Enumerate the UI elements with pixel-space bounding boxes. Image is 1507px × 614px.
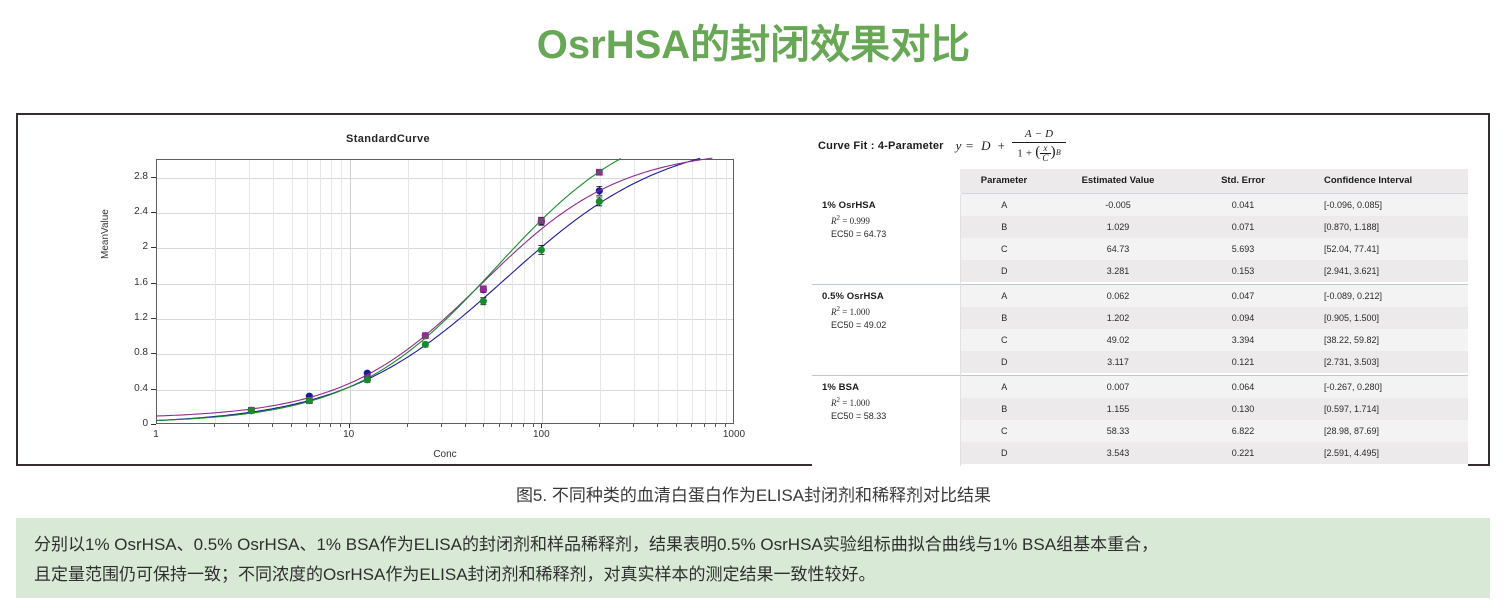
cell-parameter: C — [960, 420, 1048, 442]
cell-std-error: 3.394 — [1188, 329, 1298, 351]
group-name: 0.5% OsrHSA — [822, 291, 958, 302]
x-axis-tick-mark — [599, 424, 600, 427]
x-axis-tick-mark — [633, 424, 634, 427]
y-axis-tick-mark — [151, 318, 156, 319]
y-axis-tick-label: 1.2 — [108, 312, 148, 323]
cell-estimated-value: 0.007 — [1048, 376, 1188, 399]
table-row: 0.5% OsrHSAR2 = 1.000EC50 = 49.02A0.0620… — [812, 285, 1468, 308]
x-axis-tick-mark — [523, 424, 524, 427]
cell-parameter: A — [960, 376, 1048, 399]
cell-estimated-value: 3.543 — [1048, 442, 1188, 464]
col-header-std-error: Std. Error — [1188, 169, 1298, 194]
x-axis-tick-mark — [340, 424, 341, 427]
x-axis-tick-mark — [291, 424, 292, 427]
cell-std-error: 0.071 — [1188, 216, 1298, 238]
data-point — [596, 198, 603, 205]
x-axis-tick-mark — [349, 424, 350, 428]
y-axis-tick-mark — [151, 212, 156, 213]
cell-confidence-interval: [0.597, 1.714] — [1298, 398, 1468, 420]
table-body: 1% OsrHSAR2 = 0.999EC50 = 64.73A-0.0050.… — [812, 194, 1468, 467]
col-header-estimated-value: Estimated Value — [1048, 169, 1188, 194]
summary-note: 分别以1% OsrHSA、0.5% OsrHSA、1% BSA作为ELISA的封… — [16, 518, 1490, 598]
cell-parameter: D — [960, 260, 1048, 282]
y-axis-tick-label: 2 — [108, 241, 148, 252]
cell-parameter: B — [960, 307, 1048, 329]
cell-parameter: A — [960, 194, 1048, 217]
cell-std-error: 0.153 — [1188, 260, 1298, 282]
cell-confidence-interval: [28.98, 87.69] — [1298, 420, 1468, 442]
figure-caption: 图5. 不同种类的血清白蛋白作为ELISA封闭剂和稀释剂对比结果 — [0, 481, 1507, 506]
y-axis-tick-label: 0.8 — [108, 347, 148, 358]
group-r-squared: R2 = 1.000 — [831, 305, 958, 317]
cell-std-error: 5.693 — [1188, 238, 1298, 260]
summary-note-line-2: 且定量范围仍可保持一致；不同浓度的OsrHSA作为ELISA封闭剂和稀释剂，对真… — [34, 560, 1474, 590]
curve-fit-formula: y = D + A − D 1 + ( x C ) — [956, 129, 1066, 163]
y-axis-tick-mark — [151, 389, 156, 390]
cell-std-error: 0.130 — [1188, 398, 1298, 420]
formula-exponent: B — [1056, 149, 1061, 157]
formula-numerator: A − D — [1020, 129, 1058, 142]
standard-curve-chart: StandardCurve MeanValue Conc 00.40.81.21… — [38, 119, 758, 464]
x-axis-tick-mark — [704, 424, 705, 427]
summary-note-line-1: 分别以1% OsrHSA、0.5% OsrHSA、1% BSA作为ELISA的封… — [34, 530, 1474, 560]
formula-plus: + — [998, 138, 1006, 154]
cell-parameter: B — [960, 398, 1048, 420]
y-axis-tick-label: 2.4 — [108, 206, 148, 217]
x-axis-tick-mark — [676, 424, 677, 427]
col-header-confidence-interval: Confidence Interval — [1298, 169, 1468, 194]
table-row: 1% BSAR2 = 1.000EC50 = 58.33A0.0070.064[… — [812, 376, 1468, 399]
group-name: 1% BSA — [822, 382, 958, 393]
x-axis-tick-mark — [248, 424, 249, 427]
x-axis-tick-mark — [306, 424, 307, 427]
y-axis-tick-label: 0 — [108, 418, 148, 429]
cell-estimated-value: 1.029 — [1048, 216, 1188, 238]
formula-C: C — [1040, 153, 1050, 163]
cell-parameter: D — [960, 442, 1048, 464]
formula-x: x — [1041, 144, 1049, 153]
fit-curve-2 — [156, 158, 621, 420]
group-cell: 1% BSAR2 = 1.000EC50 = 58.33 — [812, 376, 960, 465]
cell-std-error: 0.094 — [1188, 307, 1298, 329]
cell-estimated-value: 58.33 — [1048, 420, 1188, 442]
y-axis-tick-mark — [151, 353, 156, 354]
cell-confidence-interval: [2.591, 4.495] — [1298, 442, 1468, 464]
fit-curve-0 — [156, 158, 700, 420]
x-axis-tick-mark — [319, 424, 320, 427]
table-row: 1% OsrHSAR2 = 0.999EC50 = 64.73A-0.0050.… — [812, 194, 1468, 217]
fit-curve-1 — [156, 158, 712, 416]
formula-one-plus: 1 + — [1017, 147, 1032, 159]
table-header: Parameter Estimated Value Std. Error Con… — [812, 169, 1468, 194]
cell-confidence-interval: [-0.089, 0.212] — [1298, 285, 1468, 308]
y-axis-tick-label: 1.6 — [108, 277, 148, 288]
x-axis-tick-mark — [657, 424, 658, 427]
group-cell: 1% OsrHSAR2 = 0.999EC50 = 64.73 — [812, 194, 960, 283]
figure-frame: StandardCurve MeanValue Conc 00.40.81.21… — [16, 113, 1490, 466]
x-axis-tick-mark — [541, 424, 542, 428]
cell-estimated-value: 3.117 — [1048, 351, 1188, 373]
y-axis-tick-mark — [151, 177, 156, 178]
x-axis-tick-mark — [407, 424, 408, 427]
x-axis-tick-mark — [272, 424, 273, 427]
cell-confidence-interval: [0.905, 1.500] — [1298, 307, 1468, 329]
cell-confidence-interval: [-0.096, 0.085] — [1298, 194, 1468, 217]
formula-denominator: 1 + ( x C ) B — [1012, 142, 1066, 163]
x-axis-tick-label: 1 — [131, 429, 181, 440]
x-axis-tick-mark — [725, 424, 726, 427]
y-axis-tick-mark — [151, 424, 156, 425]
x-axis-tick-mark — [715, 424, 716, 427]
cell-confidence-interval: [2.941, 3.621] — [1298, 260, 1468, 282]
cell-estimated-value: 1.155 — [1048, 398, 1188, 420]
data-point — [538, 246, 545, 253]
formula-D: D — [981, 138, 991, 154]
group-cell: 0.5% OsrHSAR2 = 1.000EC50 = 49.02 — [812, 285, 960, 374]
parameter-table-panel: Curve Fit : 4-Parameter y = D + A − D 1 … — [804, 121, 1476, 461]
data-point — [364, 376, 371, 383]
data-point — [422, 341, 429, 348]
cell-estimated-value: 1.202 — [1048, 307, 1188, 329]
cell-parameter: D — [960, 351, 1048, 373]
cell-parameter: A — [960, 285, 1048, 308]
y-axis-tick-label: 2.8 — [108, 171, 148, 182]
cell-estimated-value: 3.281 — [1048, 260, 1188, 282]
x-axis-tick-mark — [441, 424, 442, 427]
x-axis-tick-mark — [465, 424, 466, 427]
group-name: 1% OsrHSA — [822, 200, 958, 211]
x-axis-tick-label: 1000 — [709, 429, 759, 440]
cell-std-error: 0.064 — [1188, 376, 1298, 399]
cell-confidence-interval: [-0.267, 0.280] — [1298, 376, 1468, 399]
data-point — [248, 407, 255, 414]
group-r-squared: R2 = 1.000 — [831, 396, 958, 408]
x-axis-tick-mark — [483, 424, 484, 427]
cell-estimated-value: -0.005 — [1048, 194, 1188, 217]
cell-parameter: C — [960, 238, 1048, 260]
group-ec50: EC50 = 58.33 — [831, 411, 958, 421]
y-axis-tick-mark — [151, 283, 156, 284]
x-axis-tick-mark — [511, 424, 512, 427]
parameter-table: Parameter Estimated Value Std. Error Con… — [812, 169, 1468, 466]
x-axis-tick-mark — [499, 424, 500, 427]
cell-confidence-interval: [0.870, 1.188] — [1298, 216, 1468, 238]
data-point — [306, 397, 313, 404]
group-spacer — [812, 464, 1468, 466]
cell-estimated-value: 49.02 — [1048, 329, 1188, 351]
cell-confidence-interval: [38.22, 59.82] — [1298, 329, 1468, 351]
cell-std-error: 6.822 — [1188, 420, 1298, 442]
cell-std-error: 0.221 — [1188, 442, 1298, 464]
group-ec50: EC50 = 64.73 — [831, 229, 958, 239]
formula-paren: ( x C ) B — [1035, 144, 1061, 163]
formula-y: y = — [956, 138, 974, 154]
x-axis-tick-label: 10 — [324, 429, 374, 440]
cell-parameter: B — [960, 216, 1048, 238]
x-axis-tick-mark — [533, 424, 534, 427]
curve-fit-label: Curve Fit : 4-Parameter — [818, 140, 944, 152]
group-r-squared: R2 = 0.999 — [831, 214, 958, 226]
formula-fraction: A − D 1 + ( x C ) B — [1012, 129, 1066, 163]
cell-std-error: 0.041 — [1188, 194, 1298, 217]
cell-std-error: 0.047 — [1188, 285, 1298, 308]
data-point — [480, 298, 487, 305]
x-axis-tick-label: 100 — [516, 429, 566, 440]
x-axis-tick-mark — [214, 424, 215, 427]
page-title: OsrHSA的封闭效果对比 — [0, 22, 1507, 68]
y-axis-tick-label: 0.4 — [108, 383, 148, 394]
col-header-group — [812, 169, 960, 194]
col-header-parameter: Parameter — [960, 169, 1048, 194]
cell-std-error: 0.121 — [1188, 351, 1298, 373]
cell-estimated-value: 0.062 — [1048, 285, 1188, 308]
cell-confidence-interval: [52.04, 77.41] — [1298, 238, 1468, 260]
cell-estimated-value: 64.73 — [1048, 238, 1188, 260]
cell-parameter: C — [960, 329, 1048, 351]
curve-fit-header: Curve Fit : 4-Parameter y = D + A − D 1 … — [818, 129, 1066, 163]
cell-confidence-interval: [2.731, 3.503] — [1298, 351, 1468, 373]
x-axis-tick-mark — [691, 424, 692, 427]
data-point — [480, 285, 487, 292]
x-axis-tick-mark — [330, 424, 331, 427]
group-ec50: EC50 = 49.02 — [831, 320, 958, 330]
y-axis-tick-mark — [151, 247, 156, 248]
